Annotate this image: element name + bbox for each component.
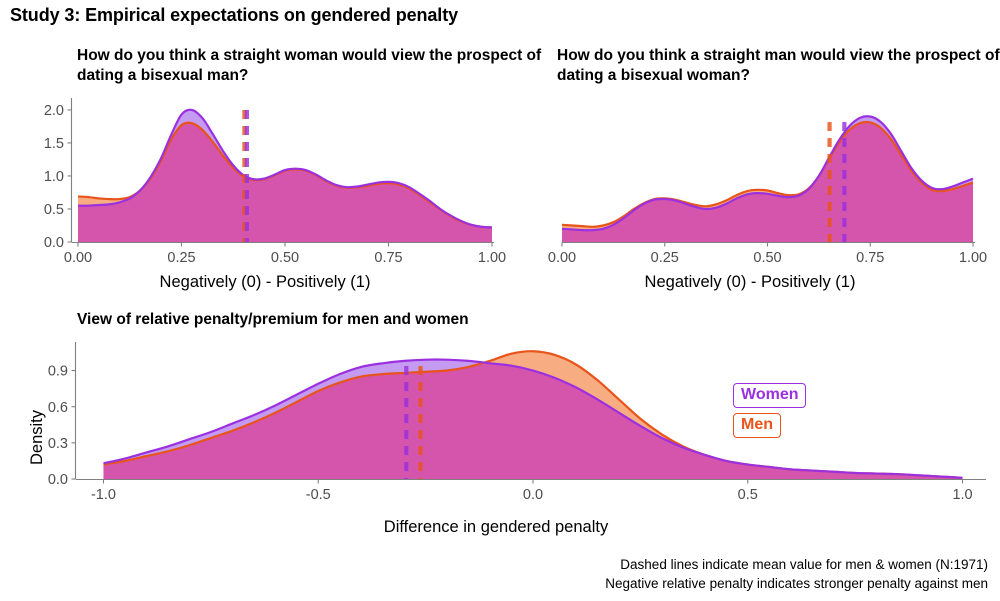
x-tick-label: 0.50 (271, 250, 299, 266)
legend-item-men[interactable]: Men (733, 413, 781, 438)
panel1-title: How do you think a straight woman would … (77, 46, 547, 87)
y-tick-label: 0.5 (44, 202, 64, 218)
legend-women-label: Women (741, 386, 798, 403)
y-tick-label: 0.0 (48, 472, 68, 488)
legend-item-women[interactable]: Women (733, 383, 806, 408)
panel3-title-text: View of relative penalty/premium for men… (77, 311, 469, 328)
panel3-title: View of relative penalty/premium for men… (77, 310, 677, 330)
y-tick-label: 2.0 (44, 103, 64, 119)
y-tick-label: 1.0 (44, 169, 64, 185)
x-tick-label: 0.75 (856, 250, 884, 266)
panel1-plot: 0.000.250.500.751.000.00.51.01.52.0 (20, 92, 510, 272)
overlap-area (78, 123, 492, 242)
footnote-2: Negative relative penalty indicates stro… (605, 576, 988, 591)
x-tick-label: 0.00 (548, 250, 576, 266)
x-tick-label: -1.0 (91, 487, 116, 503)
page-title: Study 3: Empirical expectations on gende… (10, 5, 458, 26)
x-tick-label: 1.00 (959, 250, 987, 266)
x-tick-label: 0.75 (374, 250, 402, 266)
x-tick-label: -0.5 (306, 487, 331, 503)
x-tick-label: 0.25 (167, 250, 195, 266)
panel2-title: How do you think a straight man would vi… (557, 46, 1000, 87)
panel2-svg: 0.000.250.500.751.00 (510, 92, 995, 272)
x-tick-label: 0.5 (738, 487, 758, 503)
panel3-plot: -1.0-0.50.00.51.00.00.30.60.9 (36, 332, 998, 517)
panel2-title-text: How do you think a straight man would vi… (557, 47, 1000, 84)
panel3-svg: -1.0-0.50.00.51.00.00.30.60.9 (36, 332, 998, 517)
x-tick-label: 1.00 (478, 250, 506, 266)
footnote-1: Dashed lines indicate mean value for men… (620, 557, 988, 572)
x-tick-label: 1.0 (952, 487, 972, 503)
x-tick-label: 0.00 (64, 250, 92, 266)
panel2-xaxis-label: Negatively (0) - Positively (1) (505, 273, 995, 292)
panel1-xaxis-label: Negatively (0) - Positively (1) (20, 273, 510, 292)
panel2-plot: 0.000.250.500.751.00 (510, 92, 995, 272)
panel1-svg: 0.000.250.500.751.000.00.51.01.52.0 (20, 92, 510, 272)
y-tick-label: 0.9 (48, 364, 68, 380)
panel1-title-text: How do you think a straight woman would … (77, 47, 541, 84)
y-tick-label: 0.0 (44, 235, 64, 251)
overlap-area (103, 363, 962, 479)
y-tick-label: 1.5 (44, 136, 64, 152)
x-tick-label: 0.0 (523, 487, 543, 503)
x-tick-label: 0.50 (753, 250, 781, 266)
y-tick-label: 0.3 (48, 436, 68, 452)
y-tick-label: 0.6 (48, 400, 68, 416)
panel3-xaxis-label: Difference in gendered penalty (36, 518, 956, 537)
x-tick-label: 0.25 (651, 250, 679, 266)
overlap-area (562, 122, 973, 242)
legend-men-label: Men (741, 416, 773, 433)
